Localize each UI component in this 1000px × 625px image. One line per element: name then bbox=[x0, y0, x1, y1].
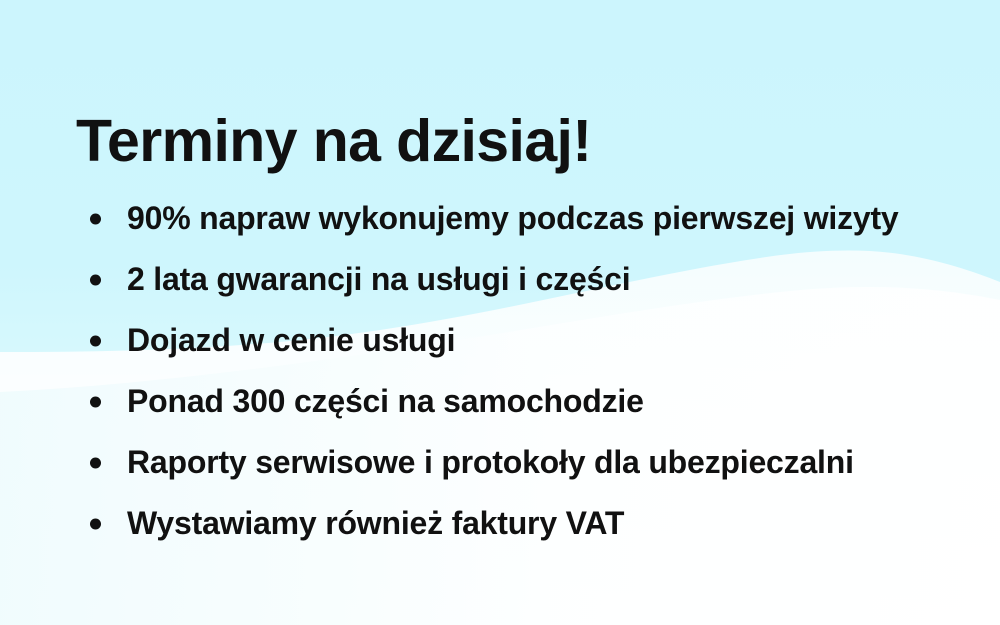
page-title: Terminy na dzisiaj! bbox=[76, 112, 591, 171]
bullet-dot-icon bbox=[90, 396, 101, 407]
list-item-label: 2 lata gwarancji na usługi i części bbox=[127, 262, 630, 297]
bullet-dot-icon bbox=[90, 518, 101, 529]
slide-content: Terminy na dzisiaj! 90% napraw wykonujem… bbox=[0, 0, 1000, 625]
list-item: 2 lata gwarancji na usługi i części bbox=[86, 249, 899, 310]
list-item: Dojazd w cenie usługi bbox=[86, 310, 899, 371]
list-item-label: Raporty serwisowe i protokoły dla ubezpi… bbox=[127, 445, 854, 480]
bullet-dot-icon bbox=[90, 457, 101, 468]
list-item-label: Dojazd w cenie usługi bbox=[127, 323, 455, 358]
bullet-dot-icon bbox=[90, 274, 101, 285]
list-item: 90% napraw wykonujemy podczas pierwszej … bbox=[86, 188, 899, 249]
list-item-label: 90% napraw wykonujemy podczas pierwszej … bbox=[127, 201, 899, 236]
list-item-label: Ponad 300 części na samochodzie bbox=[127, 384, 644, 419]
bullet-list: 90% napraw wykonujemy podczas pierwszej … bbox=[86, 188, 899, 554]
list-item-label: Wystawiamy również faktury VAT bbox=[127, 506, 624, 541]
presentation-slide: Terminy na dzisiaj! 90% napraw wykonujem… bbox=[0, 0, 1000, 625]
bullet-dot-icon bbox=[90, 213, 101, 224]
list-item: Raporty serwisowe i protokoły dla ubezpi… bbox=[86, 432, 899, 493]
list-item: Wystawiamy również faktury VAT bbox=[86, 493, 899, 554]
bullet-dot-icon bbox=[90, 335, 101, 346]
list-item: Ponad 300 części na samochodzie bbox=[86, 371, 899, 432]
